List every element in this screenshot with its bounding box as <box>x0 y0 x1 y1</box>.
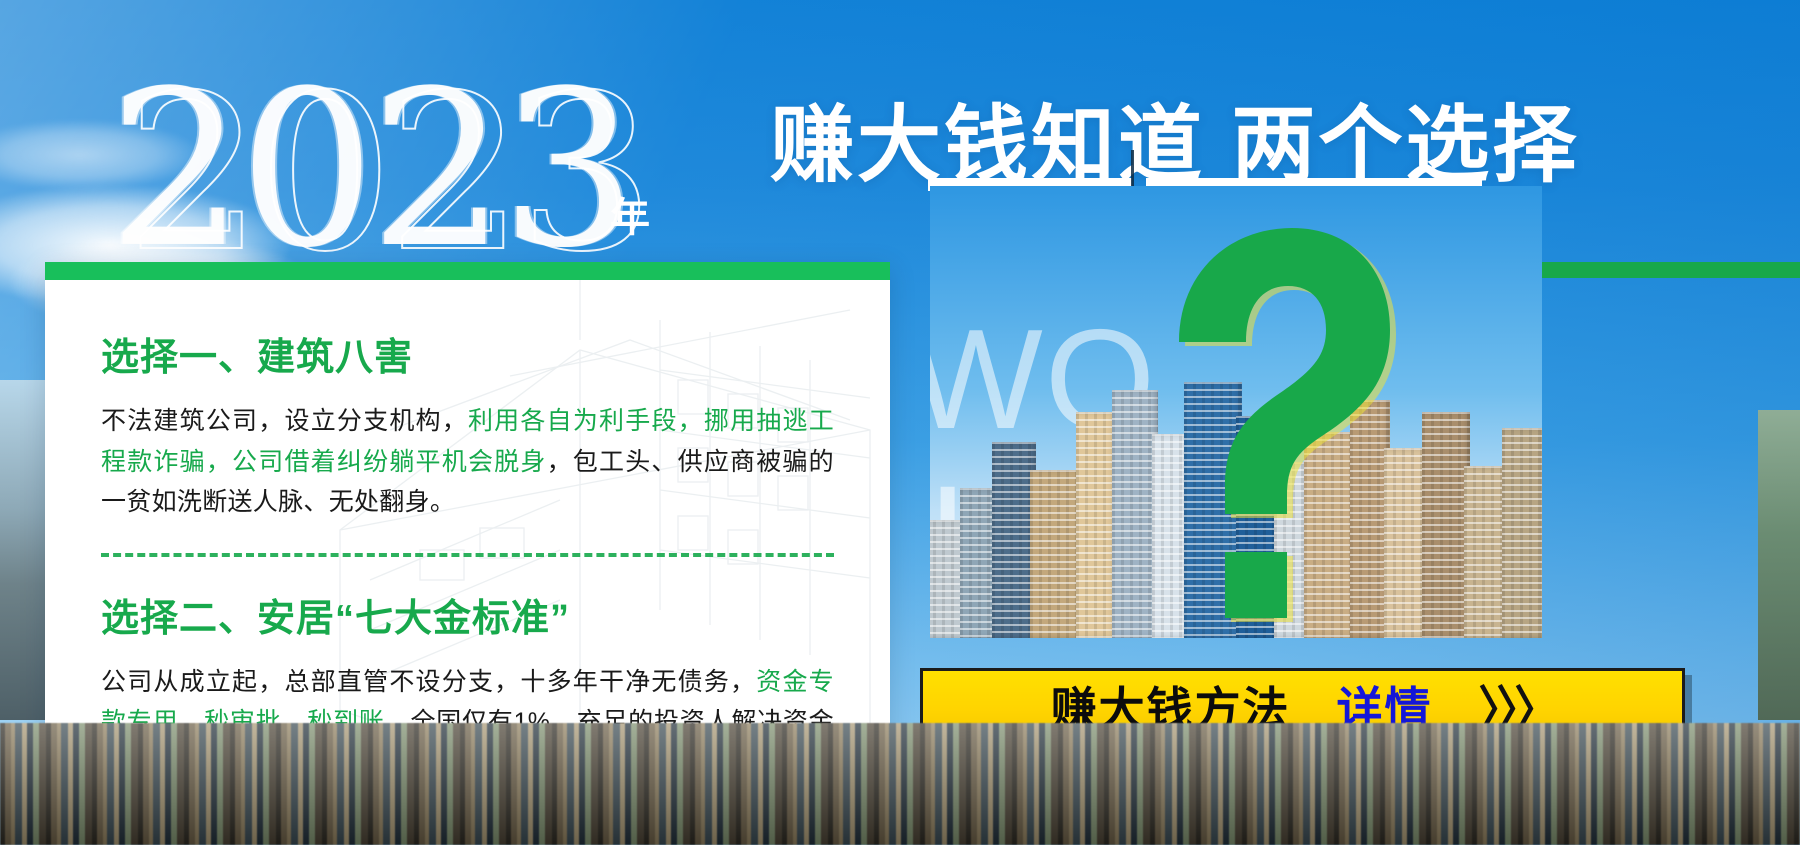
card-body: 选择一、建筑八害 不法建筑公司，设立分支机构，利用各自为利手段，挪用抽逃工程款诈… <box>45 280 890 783</box>
city-skyline-graphic <box>930 378 1542 638</box>
year-suffix-label: 年 <box>610 185 651 243</box>
building-shape <box>1076 412 1116 638</box>
choice-section-one: 选择一、建筑八害 不法建筑公司，设立分支机构，利用各自为利手段，挪用抽逃工程款诈… <box>101 326 834 523</box>
section-divider <box>101 553 834 557</box>
text-part: 公司从成立起，总部直管不设分支，十多年干净无债务， <box>101 668 756 696</box>
building-shape <box>1304 432 1356 638</box>
card-top-accent-bar <box>45 262 890 280</box>
content-card: 选择一、建筑八害 不法建筑公司，设立分支机构，利用各自为利手段，挪用抽逃工程款诈… <box>45 262 890 792</box>
year-display: 2023 2023 <box>108 62 688 262</box>
cityscape-photo-panel: TWO CHOICES <box>930 186 1542 638</box>
year-number: 2023 <box>108 62 688 277</box>
section-one-text: 不法建筑公司，设立分支机构，利用各自为利手段，挪用抽逃工程款诈骗，公司借着纠纷躺… <box>101 401 834 523</box>
right-scenery-sliver <box>1758 410 1800 720</box>
bottom-photo-strip <box>0 723 1800 845</box>
section-one-title: 选择一、建筑八害 <box>101 326 834 381</box>
text-part: 不法建筑公司，设立分支机构， <box>101 407 468 435</box>
promo-banner: 2023 2023 年 赚大钱知道 两个选择 TWO CHOICES <box>0 0 1800 845</box>
building-shape <box>1184 382 1242 638</box>
building-shape <box>1030 470 1082 638</box>
section-two-title: 选择二、安居“七大金标准” <box>101 587 834 642</box>
building-shape <box>1502 428 1542 638</box>
green-accent-bar-right <box>1500 262 1800 278</box>
building-shape <box>1422 412 1470 638</box>
